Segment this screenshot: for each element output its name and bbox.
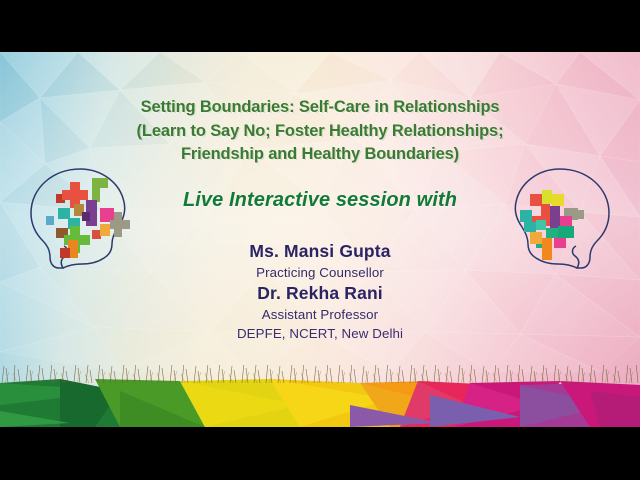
slide-text-content: Setting Boundaries: Self-Care in Relatio… <box>0 52 640 343</box>
title-line-3: Friendship and Healthy Boundaries) <box>42 143 598 167</box>
title-line-2: (Learn to Say No; Foster Healthy Relatio… <box>42 120 598 144</box>
grass-silhouette <box>0 365 640 383</box>
slide-bottom-color-band <box>0 365 640 427</box>
letterbox-bar-top <box>0 0 640 52</box>
speaker-name: Ms. Mansi Gupta <box>0 240 640 263</box>
speaker-name: Dr. Rekha Rani <box>0 282 640 305</box>
page-title: Setting Boundaries: Self-Care in Relatio… <box>0 96 640 167</box>
title-line-1: Setting Boundaries: Self-Care in Relatio… <box>42 96 598 120</box>
presentation-slide: Setting Boundaries: Self-Care in Relatio… <box>0 52 640 427</box>
speaker-role: Practicing Counsellor <box>0 263 640 282</box>
letterbox-bar-bottom <box>0 427 640 480</box>
speaker-affiliation: DEPFE, NCERT, New Delhi <box>0 324 640 343</box>
speaker-list: Ms. Mansi Gupta Practicing Counsellor Dr… <box>0 240 640 343</box>
session-subtitle: Live Interactive session with <box>0 189 640 212</box>
speaker-role: Assistant Professor <box>0 305 640 324</box>
video-player-frame: Setting Boundaries: Self-Care in Relatio… <box>0 0 640 480</box>
